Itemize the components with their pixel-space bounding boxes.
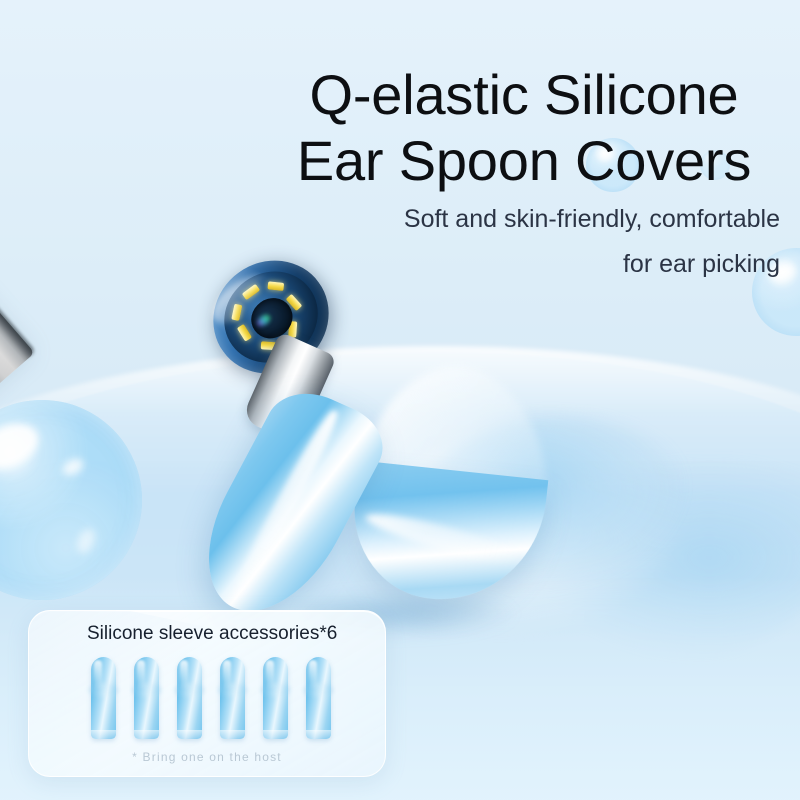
bubble-highlight-tiny bbox=[73, 526, 98, 556]
tip-waist-highlight bbox=[218, 683, 247, 697]
product-poster: Q-elastic Silicone Ear Spoon Covers Soft… bbox=[0, 0, 800, 800]
tip-waist-highlight bbox=[89, 683, 118, 697]
page-title: Q-elastic Silicone Ear Spoon Covers bbox=[268, 62, 780, 194]
led-light-icon bbox=[237, 323, 252, 341]
accessory-card-title: Silicone sleeve accessories*6 bbox=[87, 623, 337, 645]
silicone-tip-item bbox=[177, 657, 202, 739]
accessory-card: Silicone sleeve accessories*6 * Bring on… bbox=[28, 610, 386, 777]
silicone-tip-item bbox=[91, 657, 116, 739]
silicone-tips-row bbox=[91, 655, 331, 739]
accessory-card-footnote: * Bring one on the host bbox=[29, 750, 385, 764]
metal-barrel-edge-shadow bbox=[0, 0, 36, 359]
silicone-tip-item bbox=[306, 657, 331, 739]
tip-waist-highlight bbox=[261, 683, 290, 697]
page-subtitle: Soft and skin-friendly, comfortable for … bbox=[268, 197, 780, 286]
tip-waist-highlight bbox=[132, 683, 161, 697]
tip-waist-highlight bbox=[175, 683, 204, 697]
headline-line-2: Ear Spoon Covers bbox=[268, 128, 780, 194]
subhead-line-2: for ear picking bbox=[268, 242, 780, 287]
silicone-tip-item bbox=[134, 657, 159, 739]
bubble-highlight bbox=[0, 415, 45, 477]
tip-waist-highlight bbox=[304, 683, 333, 697]
silicone-tip-item bbox=[263, 657, 288, 739]
bubble-highlight-small bbox=[60, 455, 86, 478]
headline-line-1: Q-elastic Silicone bbox=[268, 62, 780, 128]
silicone-tip-item bbox=[220, 657, 245, 739]
subhead-line-1: Soft and skin-friendly, comfortable bbox=[268, 197, 780, 242]
